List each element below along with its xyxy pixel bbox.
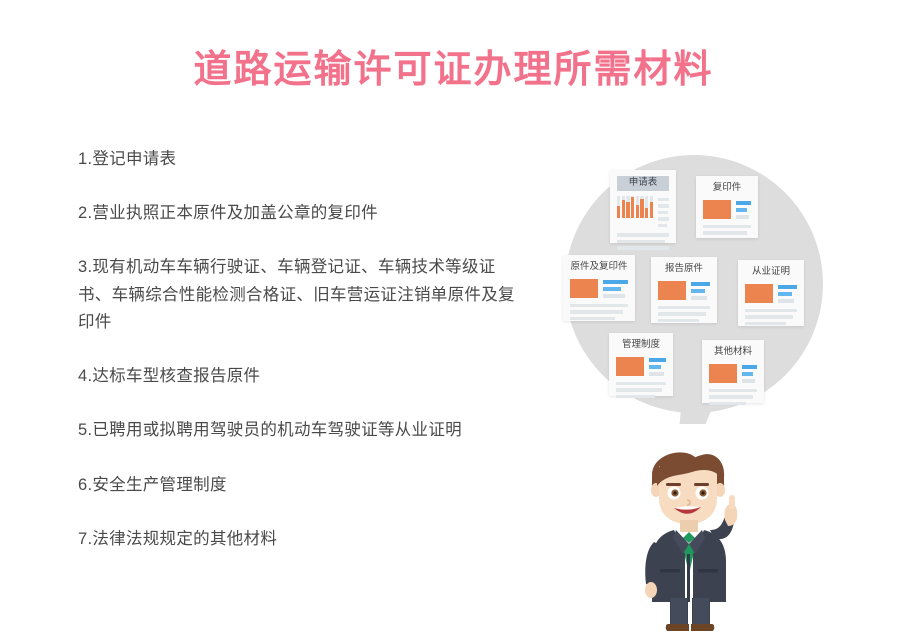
list-item: 6.安全生产管理制度 [78,472,528,499]
document-card-title: 管理制度 [616,339,666,352]
document-card-title: 从业证明 [745,266,797,279]
document-card-title: 申请表 [617,176,669,191]
document-thumbnail [570,279,598,298]
document-card-report-original: 报告原件 [651,257,717,323]
document-card-title: 复印件 [703,182,751,195]
document-chart-row [617,196,669,228]
list-item: 7.法律法规规定的其他材料 [78,526,528,553]
document-card-copy: 复印件 [696,176,758,238]
document-lines [649,357,666,376]
document-card-management-system: 管理制度 [609,333,673,396]
list-item: 1.登记申请表 [78,146,528,173]
document-thumbnail [703,200,731,219]
list-item: 5.已聘用或拟聘用驾驶员的机动车驾驶证等从业证明 [78,417,528,444]
list-item: 4.达标车型核查报告原件 [78,363,528,390]
document-thumbnail [745,284,773,303]
document-footer-lines [658,306,710,323]
requirements-list: 1.登记申请表 2.营业执照正本原件及加盖公章的复印件 3.现有机动车车辆行驶证… [78,146,528,553]
mini-bar-chart [617,196,653,218]
document-body [616,357,666,376]
document-lines [778,284,797,303]
document-body [745,284,797,303]
infographic-page: 道路运输许可证办理所需材料 1.登记申请表 2.营业执照正本原件及加盖公章的复印… [0,0,907,632]
document-lines [742,364,757,383]
page-title: 道路运输许可证办理所需材料 [0,48,907,94]
document-body [658,281,710,300]
document-body [703,200,751,219]
document-body [570,279,628,298]
speech-bubble: 申请表 [552,150,842,450]
document-lines [603,279,628,298]
document-card-original-and-copy: 原件及复印件 [563,255,635,321]
document-card-title: 报告原件 [658,263,710,276]
document-footer-lines [703,225,751,235]
list-item: 3.现有机动车车辆行驶证、车辆登记证、车辆技术等级证书、车辆综合性能检测合格证、… [78,254,528,336]
document-card-other-materials: 其他材料 [702,340,764,403]
document-footer-lines [616,382,666,399]
document-card-title: 原件及复印件 [570,261,628,274]
document-thumbnail [658,281,686,300]
document-thumbnail [616,357,644,376]
document-card-application-form: 申请表 [610,170,676,243]
businessman-icon [630,442,760,632]
document-footer-lines [617,233,669,250]
document-lines [736,200,751,219]
document-card-employment-certificate: 从业证明 [738,260,804,326]
document-footer-lines [570,304,628,321]
document-footer-lines [745,309,797,326]
document-body [709,364,757,383]
document-lines [658,196,669,228]
document-card-title: 其他材料 [709,346,757,359]
document-footer-lines [709,389,757,406]
businessman-illustration [630,442,760,632]
document-thumbnail [709,364,737,383]
list-item: 2.营业执照正本原件及加盖公章的复印件 [78,200,528,227]
document-lines [691,281,710,300]
